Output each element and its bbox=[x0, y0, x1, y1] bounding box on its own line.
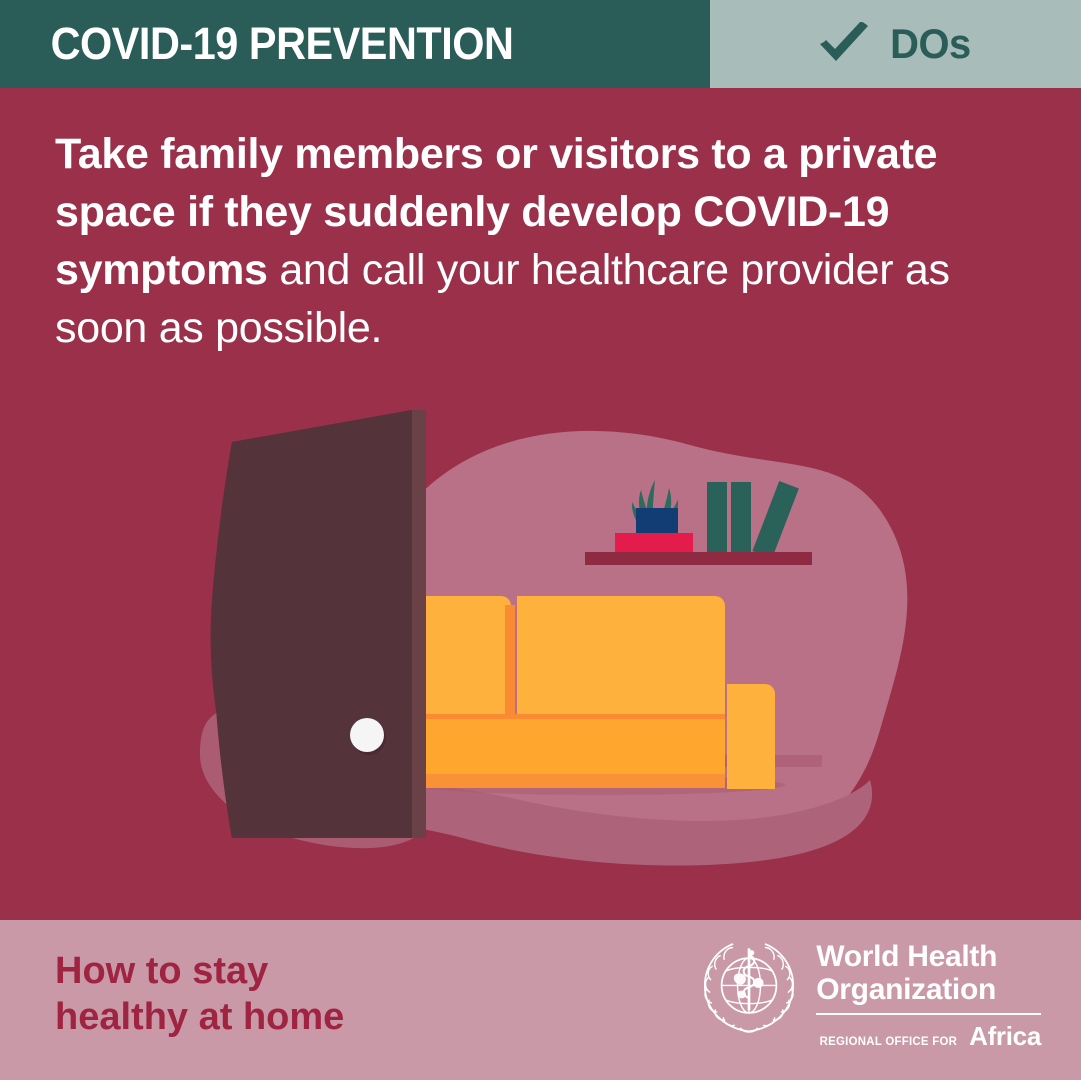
pink-book-icon bbox=[615, 533, 693, 555]
header-title-section: COVID-19 PREVENTION bbox=[0, 0, 710, 88]
footer-bar: How to stay healthy at home bbox=[0, 920, 1081, 1080]
sofa-base bbox=[424, 774, 725, 788]
teal-book-2 bbox=[731, 482, 751, 555]
who-organization-name: World Health Organization bbox=[816, 940, 1041, 1006]
who-wordmark: World Health Organization REGIONAL OFFIC… bbox=[816, 936, 1041, 1052]
who-region-name: Africa bbox=[969, 1021, 1041, 1052]
door-knob-icon[interactable] bbox=[350, 718, 384, 752]
door-edge bbox=[412, 410, 426, 838]
page-title: COVID-19 PREVENTION bbox=[0, 18, 513, 70]
teal-book-1 bbox=[707, 482, 727, 555]
footer-tagline: How to stay healthy at home bbox=[55, 948, 344, 1040]
sofa-back-cushion-right bbox=[517, 596, 725, 716]
illustration bbox=[0, 400, 1081, 920]
who-logo: World Health Organization REGIONAL OFFIC… bbox=[696, 936, 1041, 1052]
sofa-cushion-seam bbox=[505, 605, 515, 716]
check-icon bbox=[818, 22, 870, 66]
who-emblem-icon bbox=[696, 936, 802, 1042]
illustration-svg bbox=[0, 400, 1081, 920]
dos-badge-label: DOs bbox=[890, 20, 971, 68]
header-bar: COVID-19 PREVENTION DOs bbox=[0, 0, 1081, 88]
dos-badge: DOs bbox=[710, 0, 1081, 88]
sofa-seat bbox=[424, 716, 725, 781]
shelf-board bbox=[585, 552, 812, 565]
sofa-back-cushion-left bbox=[424, 596, 511, 716]
open-door-group bbox=[211, 410, 426, 838]
sofa-seat-seam bbox=[424, 714, 725, 719]
poster-root: COVID-19 PREVENTION DOs Take family memb… bbox=[0, 0, 1081, 1080]
who-divider bbox=[816, 1013, 1041, 1015]
sofa-armrest-right bbox=[727, 684, 775, 789]
who-region-row: REGIONAL OFFICE FOR Africa bbox=[816, 1021, 1041, 1052]
who-region-prefix: REGIONAL OFFICE FOR bbox=[820, 1034, 958, 1048]
headline-text: Take family members or visitors to a pri… bbox=[55, 125, 955, 357]
